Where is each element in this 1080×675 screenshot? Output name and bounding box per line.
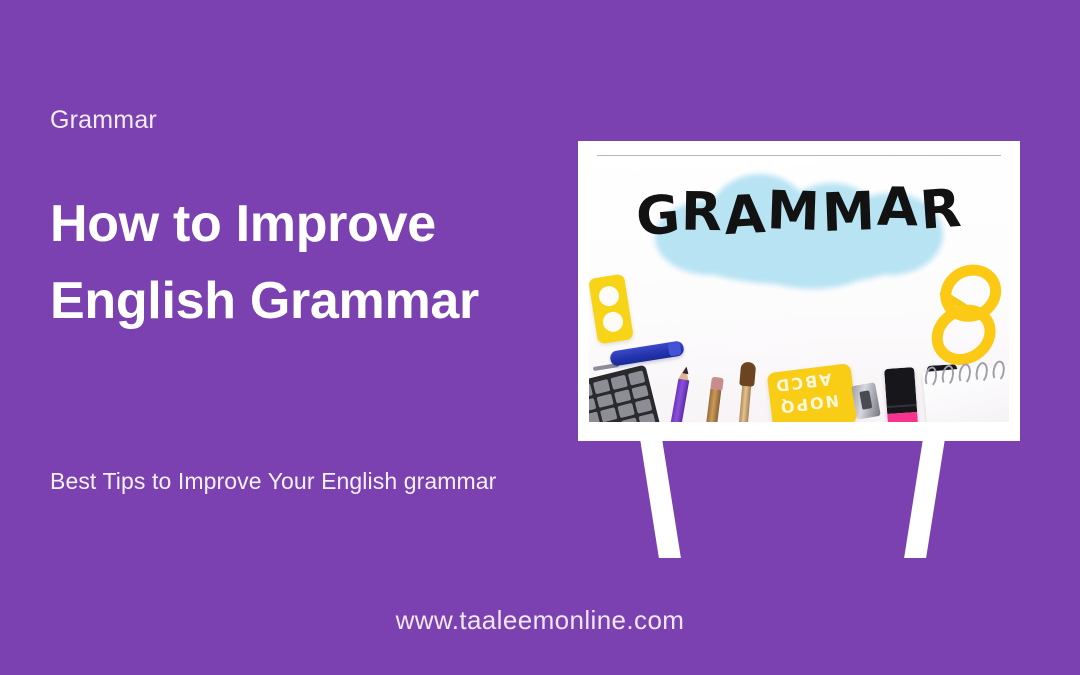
grammar-letter: M (821, 181, 878, 244)
category-label: Grammar (50, 105, 157, 135)
grammar-letter: R (681, 182, 725, 244)
grammar-letter: G (633, 184, 684, 249)
grammar-word: GRAMMAR (589, 177, 1009, 246)
board-top-rule (597, 155, 1000, 156)
page-title-line-2: English Grammar (50, 263, 590, 340)
whiteboard-frame: GRAMMAR ABCD (578, 141, 1020, 441)
abc-stencil-label-row-2: NOPQ (777, 391, 839, 417)
page-title: How to Improve English Grammar (50, 186, 590, 340)
blue-marker-icon (609, 340, 684, 366)
abc-stencil-label-row-1: ABCD (773, 369, 832, 395)
pencil-sharpener-icon (851, 382, 881, 420)
scissors-icon (940, 263, 1008, 359)
grammar-letter: A (723, 184, 769, 247)
calculator-icon (589, 365, 661, 422)
wooden-pencil-icon (703, 389, 721, 422)
purple-pencil-icon (668, 378, 690, 422)
abc-stencil-icon: ABCD NOPQ (766, 363, 857, 422)
easel-leg-right (904, 426, 947, 558)
pink-highlighter-icon (884, 367, 920, 422)
spiral-notebook-icon (923, 364, 1009, 422)
yellow-stencil-icon (589, 273, 634, 344)
banner-canvas: Grammar How to Improve English Grammar B… (0, 0, 1080, 675)
whiteboard-photo: GRAMMAR ABCD (589, 151, 1009, 422)
page-subtitle: Best Tips to Improve Your English gramma… (50, 462, 550, 502)
easel: GRAMMAR ABCD (560, 130, 1040, 570)
paint-brush-icon (738, 384, 752, 422)
grammar-letter: A (876, 177, 920, 239)
page-title-line-1: How to Improve (50, 186, 590, 263)
website-url: www.taaleemonline.com (0, 605, 1080, 636)
easel-leg-left (638, 426, 681, 558)
grammar-letter: M (766, 180, 823, 243)
grammar-letter: R (917, 178, 964, 242)
